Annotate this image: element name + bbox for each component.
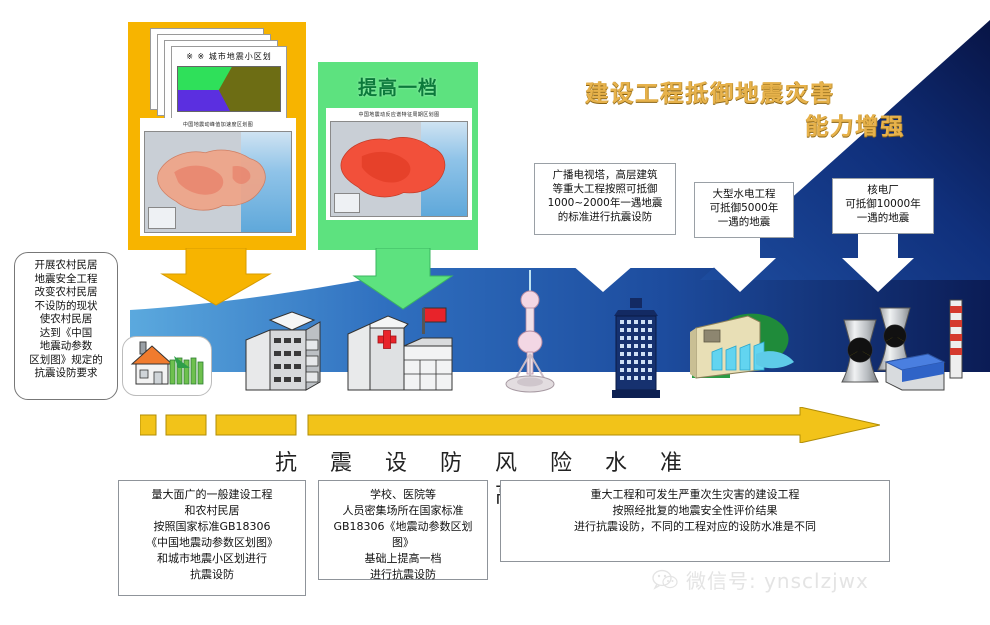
bottom-box-general-construction-text: 量大面广的一般建设工程和农村民居按照国家标准GB18306《中国地震动参数区划图… (146, 488, 278, 581)
card-front: ※ ※ 城市地震小区划 (171, 46, 287, 126)
map-peak-acceleration-title: 中国地震动峰值加速度区划图 (144, 122, 292, 129)
bottom-box-schools-hospitals-text: 学校、医院等人员密集场所在国家标准GB18306《地震动参数区划图》基础上提高一… (333, 488, 472, 581)
arrow-down-white-3 (838, 232, 918, 294)
main-title-line1: 建设工程抵御地震灾害 (575, 78, 925, 111)
map-characteristic-period-title: 中国地震动反应谱特征周期区划图 (330, 112, 468, 119)
callout-broadcast-tower: 广播电视塔，高层建筑等重大工程按照可抵御1000~2000年一遇地震的标准进行抗… (534, 163, 676, 235)
callout-rural-housing-text: 开展农村民居地震安全工程改变农村民居不设防的现状使农村民居达到《中国地震动参数区… (29, 259, 103, 379)
arrow-down-white-2 (700, 232, 780, 294)
arrow-down-green (346, 248, 460, 310)
high-rise-icon (604, 298, 668, 398)
wechat-icon (652, 569, 678, 591)
risk-level-arrow (140, 407, 880, 443)
map-peak-acceleration: 中国地震动峰值加速度区划图 (140, 118, 296, 236)
map-legend-box (148, 207, 176, 229)
callout-hydro-power-text: 大型水电工程可抵御5000年一遇的地震 (710, 188, 779, 228)
callout-broadcast-tower-text: 广播电视塔，高层建筑等重大工程按照可抵御1000~2000年一遇地震的标准进行抗… (548, 169, 663, 223)
rural-house-icon (128, 338, 208, 392)
bottom-box-general-construction: 量大面广的一般建设工程和农村民居按照国家标准GB18306《中国地震动参数区划图… (118, 480, 306, 596)
nuclear-plant-icon (828, 296, 968, 400)
microzonation-card-stack: ※ ※ 城市地震小区划 (150, 28, 290, 124)
arrow-down-yellow (152, 248, 280, 306)
map-peak-acceleration-image (144, 131, 292, 233)
bottom-box-major-projects-text: 重大工程和可发生严重次生灾害的建设工程按照经批复的地震安全性评价结果进行抗震设防… (574, 488, 816, 533)
map-characteristic-period-image (330, 121, 468, 217)
callout-nuclear-plant: 核电厂可抵御10000年一遇的地震 (832, 178, 934, 234)
watermark: 微信号: ynsclzjwx (652, 565, 869, 594)
tv-tower-icon (500, 270, 560, 396)
map-characteristic-period: 中国地震动反应谱特征周期区划图 (326, 108, 472, 220)
arrow-down-white-1 (560, 232, 646, 294)
callout-nuclear-plant-text: 核电厂可抵御10000年一遇的地震 (845, 184, 920, 224)
main-title: 建设工程抵御地震灾害 能力增强 (575, 78, 925, 144)
hospital-icon (340, 306, 460, 398)
hydro-dam-icon (690, 308, 810, 390)
bottom-box-schools-hospitals: 学校、医院等人员密集场所在国家标准GB18306《地震动参数区划图》基础上提高一… (318, 480, 488, 580)
callout-rural-housing: 开展农村民居地震安全工程改变农村民居不设防的现状使农村民居达到《中国地震动参数区… (14, 252, 118, 400)
main-title-line2: 能力增强 (575, 111, 925, 144)
callout-hydro-power: 大型水电工程可抵御5000年一遇的地震 (694, 182, 794, 238)
microzonation-thumbnail (177, 66, 281, 112)
green-panel-heading: 提高一档 (318, 62, 478, 100)
bottom-box-major-projects: 重大工程和可发生严重次生灾害的建设工程按照经批复的地震安全性评价结果进行抗震设防… (500, 480, 890, 562)
watermark-text: 微信号: ynsclzjwx (686, 565, 869, 594)
apartment-building-icon (236, 306, 332, 398)
map-legend-box-2 (334, 193, 360, 213)
card-front-label: ※ ※ 城市地震小区划 (177, 51, 281, 62)
infographic-canvas: 建设工程抵御地震灾害 能力增强 ※ ※ 城市地震小区划 中国地震动峰值加速度区划… (0, 0, 990, 625)
